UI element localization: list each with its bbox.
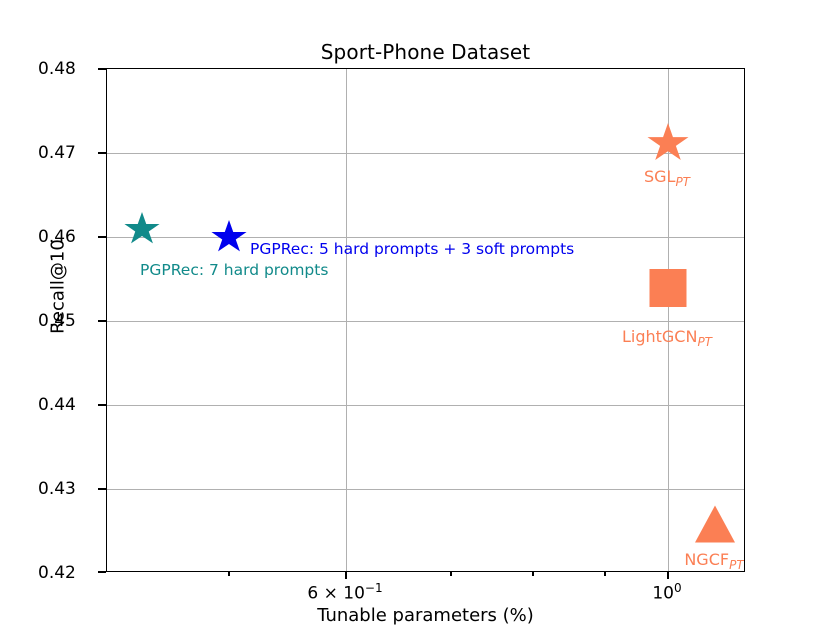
data-point-ngcf-pt[interactable] — [695, 506, 735, 543]
y-tick-mark — [98, 488, 106, 490]
x-tick-mark-minor — [228, 572, 230, 576]
x-tick-mark-minor — [450, 572, 452, 576]
x-axis-label: Tunable parameters (%) — [106, 605, 745, 626]
annotation-ngcf-pt-subscript: PT — [729, 558, 744, 572]
y-tick-mark — [98, 152, 106, 154]
y-tick-mark — [98, 320, 106, 322]
y-tick-label-3: 0.45 — [38, 311, 70, 331]
gridline-horizontal — [107, 321, 744, 322]
data-point-lightgcn-pt[interactable] — [650, 269, 687, 307]
y-tick-mark — [98, 236, 106, 238]
y-tick-mark — [98, 404, 106, 406]
chart-title: Sport-Phone Dataset — [106, 40, 745, 64]
gridline-vertical — [346, 69, 347, 571]
annotation-sgl-pt: SGLPT — [644, 167, 690, 189]
y-tick-mark — [98, 68, 106, 70]
gridline-horizontal — [107, 237, 744, 238]
annotation-lightgcn-pt-main: LightGCN — [622, 327, 697, 346]
gridline-horizontal — [107, 405, 744, 406]
y-tick-label-2: 0.46 — [38, 227, 70, 247]
y-tick-mark — [98, 571, 106, 573]
y-tick-label-0: 0.48 — [38, 59, 70, 79]
annotation-lightgcn-pt-subscript: PT — [697, 335, 712, 349]
plot-area: PGPRec: 7 hard prompts PGPRec: 5 hard pr… — [106, 68, 745, 572]
data-point-pgprec-7-hard-prompts[interactable] — [124, 212, 160, 246]
annotation-sgl-pt-subscript: PT — [675, 175, 690, 189]
gridline-horizontal — [107, 153, 744, 154]
annotation-ngcf-pt: NGCFPT — [684, 550, 743, 572]
x-tick-mark-minor — [604, 572, 606, 576]
chart-figure: Sport-Phone Dataset Recall@10 0.48 0.47 … — [0, 0, 830, 637]
x-tick-mark-major — [345, 572, 347, 579]
y-tick-label-1: 0.47 — [38, 143, 70, 163]
annotation-lightgcn-pt: LightGCNPT — [622, 327, 712, 349]
annotation-sgl-pt-main: SGL — [644, 167, 675, 186]
annotation-pgprec-5-hard-3-soft-prompts: PGPRec: 5 hard prompts + 3 soft prompts — [250, 240, 574, 258]
annotation-ngcf-pt-main: NGCF — [684, 550, 729, 569]
y-tick-label-4: 0.44 — [38, 395, 70, 415]
annotation-pgprec-7-hard-prompts: PGPRec: 7 hard prompts — [140, 261, 328, 279]
x-tick-label-6e-1: 6 × 10−1 — [307, 581, 382, 604]
y-tick-label-5: 0.43 — [38, 479, 70, 499]
x-tick-label-1e0: 100 — [652, 581, 681, 604]
gridline-horizontal — [107, 489, 744, 490]
x-tick-mark-major — [667, 572, 669, 579]
y-tick-label-6: 0.42 — [38, 563, 70, 583]
x-tick-mark-minor — [532, 572, 534, 576]
